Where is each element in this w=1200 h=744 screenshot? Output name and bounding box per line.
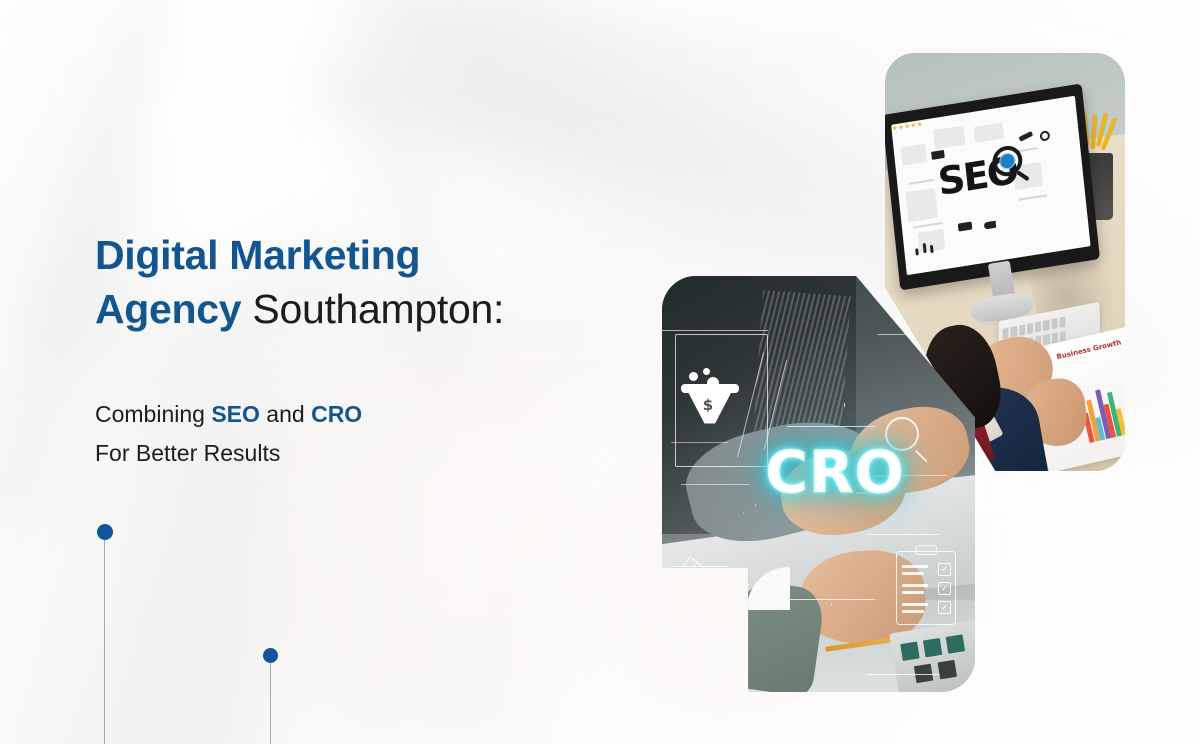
subtitle-line2: For Better Results <box>95 440 280 466</box>
hero-copy: Digital Marketing Agency Southampton: Co… <box>95 228 655 473</box>
clipboard-clip <box>915 545 937 555</box>
monitor-screen: ★★★★★ SEO <box>891 95 1090 274</box>
pin-stem <box>104 540 105 744</box>
subtitle-seo: SEO <box>211 401 260 427</box>
dot-icon <box>263 648 278 663</box>
globe-icon <box>998 152 1015 170</box>
pin-stem <box>270 663 271 744</box>
headline-line2-plain: Southampton: <box>241 286 504 332</box>
circuit-line <box>693 584 749 585</box>
checkbox-icon: ✓ <box>938 563 951 576</box>
desktop-monitor: ★★★★★ SEO <box>885 84 1099 290</box>
blue-pin-marker-2 <box>263 648 278 744</box>
headline-line2-accent: Agency <box>95 286 241 332</box>
subtitle-cro: CRO <box>311 401 362 427</box>
hud-line <box>662 330 768 331</box>
paper-title: Business Growth <box>1056 339 1122 362</box>
funnel-icon: $ <box>681 368 739 424</box>
clipboard-checklist-icon: ✓ ✓ ✓ <box>896 551 956 625</box>
page-title: Digital Marketing Agency Southampton: <box>95 228 655 336</box>
checkbox-icon: ✓ <box>938 601 951 614</box>
dollar-symbol: $ <box>703 396 713 414</box>
blue-pin-marker-1 <box>97 524 113 744</box>
subtitle-part2: and <box>260 401 311 427</box>
subtitle-part1: Combining <box>95 401 211 427</box>
checkbox-icon: ✓ <box>938 582 951 595</box>
cro-overlay-word: CRO <box>765 438 905 506</box>
funnel-rim <box>681 384 739 393</box>
page-subtitle: Combining SEO and CRO For Better Results <box>95 395 655 473</box>
circuit-line <box>681 484 750 485</box>
headline-line1: Digital Marketing <box>95 232 420 278</box>
dot-icon <box>97 524 113 540</box>
